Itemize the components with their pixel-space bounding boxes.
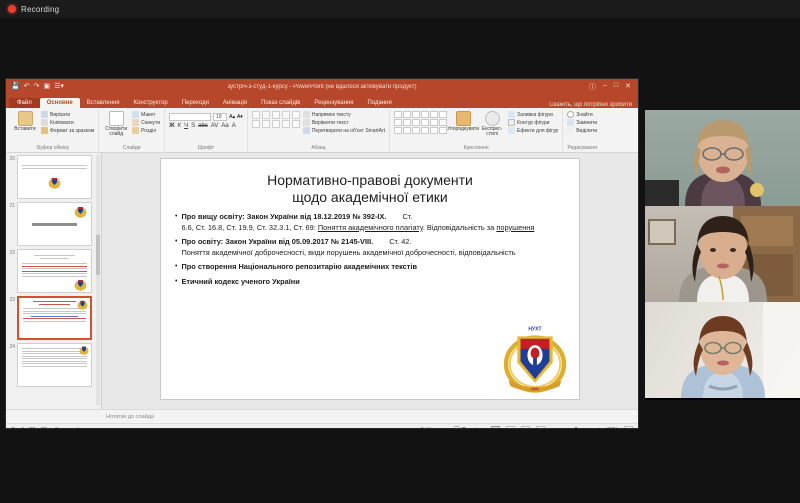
slide-thumbnail[interactable]: 21 bbox=[8, 202, 101, 246]
notes-placeholder: Нотатки до слайда bbox=[106, 414, 154, 420]
view-reading-button[interactable] bbox=[521, 426, 530, 430]
comments-button[interactable]: 💬 Примітки bbox=[453, 427, 484, 429]
tab-home[interactable]: Основне bbox=[40, 98, 80, 108]
screen-root: Recording 💾 ↶ ↷ ▣ ☰▾ зустріч-з-студ-1-ку… bbox=[0, 0, 800, 503]
tab-animations[interactable]: Анімація bbox=[216, 98, 254, 108]
underline-icon[interactable]: Ч bbox=[184, 123, 188, 129]
paste-label: Вставити bbox=[14, 127, 35, 132]
quick-styles-label: Експрес-стилі bbox=[479, 127, 505, 138]
text-direction-button[interactable]: Напрямок тексту bbox=[303, 111, 385, 118]
participant-avatar bbox=[645, 206, 800, 302]
bullet-text: Про створення Національного репозитарію … bbox=[181, 262, 417, 273]
shape-cell[interactable] bbox=[421, 119, 429, 126]
zoom-knob[interactable] bbox=[575, 427, 577, 430]
video-panel bbox=[645, 110, 800, 400]
paste-icon bbox=[18, 111, 33, 126]
thumbnail-number: 22 bbox=[8, 249, 15, 256]
find-button[interactable]: Знайти bbox=[567, 111, 597, 118]
shape-cell[interactable] bbox=[439, 119, 447, 126]
select-icon bbox=[567, 127, 574, 134]
slide-thumbnail[interactable]: 22 bbox=[8, 249, 101, 293]
shape-cell[interactable] bbox=[403, 119, 411, 126]
font-group-label: Шрифт bbox=[169, 145, 243, 152]
tell-me-box[interactable]: Скажіть, що потрібно зробити bbox=[549, 102, 638, 108]
increase-font-icon[interactable]: A▴ bbox=[229, 114, 235, 120]
align-center-icon[interactable] bbox=[262, 120, 270, 128]
smartart-icon bbox=[303, 127, 310, 134]
tab-design[interactable]: Конструктор bbox=[127, 98, 175, 108]
format-painter-button[interactable]: Формат за зразком bbox=[41, 127, 94, 134]
convert-smartart-label: Перетворити на об'єкт SmartArt bbox=[312, 128, 385, 134]
shape-cell[interactable] bbox=[403, 111, 411, 118]
ribbon-group-paragraph: Напрямок тексту Вирівняти текст Перетвор… bbox=[248, 109, 390, 152]
layout-button[interactable]: Макет bbox=[132, 111, 160, 118]
bullet-text: Етичний кодекс ученого України bbox=[181, 277, 299, 288]
slide-canvas[interactable]: Нормативно-правові документи щодо академ… bbox=[160, 158, 580, 400]
bullet-underlined2: порушення bbox=[496, 223, 534, 232]
increase-indent-icon[interactable] bbox=[282, 111, 290, 119]
ribbon-group-slides: Створити слайд Макет Скинути bbox=[99, 109, 165, 152]
view-slideshow-button[interactable] bbox=[536, 426, 545, 430]
bullet-rest2: . Відповідальність за bbox=[423, 223, 497, 232]
video-tile-participant-2[interactable] bbox=[645, 206, 800, 302]
shape-cell[interactable] bbox=[412, 111, 420, 118]
bullet-tail: Ст. 42. bbox=[389, 237, 411, 246]
video-tile-participant-3[interactable] bbox=[645, 302, 800, 398]
language-indicator[interactable]: українська bbox=[66, 427, 93, 429]
bullet-dot-icon: • bbox=[175, 237, 177, 258]
shape-cell[interactable] bbox=[403, 127, 411, 134]
copy-icon bbox=[41, 119, 48, 126]
reset-label: Скинути bbox=[141, 120, 160, 126]
thumbnail-canvas[interactable] bbox=[17, 202, 92, 246]
video-tile-participant-1[interactable] bbox=[645, 110, 800, 206]
bullet-underlined: Поняття академічного плагіату bbox=[318, 223, 423, 232]
slide-stage: Нормативно-правові документи щодо академ… bbox=[102, 153, 638, 409]
tab-review[interactable]: Рецензування bbox=[307, 98, 360, 108]
status-bar: Слайд 23 з 36 ⚖ українська ✎ Нотатки 💬 П… bbox=[6, 423, 638, 429]
new-slide-label: Створити слайд bbox=[103, 127, 129, 138]
shape-cell[interactable] bbox=[394, 111, 402, 118]
align-text-icon bbox=[303, 119, 310, 126]
notes-button[interactable]: ✎ Нотатки bbox=[421, 427, 447, 429]
bullet-lead: Про освіту: Закон України від 05.09.2017… bbox=[181, 237, 373, 246]
replace-icon bbox=[567, 119, 574, 126]
view-normal-button[interactable] bbox=[491, 426, 500, 430]
align-buttons[interactable] bbox=[252, 120, 300, 128]
thumbnail-number: 21 bbox=[8, 202, 15, 209]
shape-cell[interactable] bbox=[439, 127, 447, 134]
font-name-input[interactable] bbox=[169, 113, 211, 121]
nuht-emblem-icon bbox=[48, 176, 61, 189]
shape-cell[interactable] bbox=[421, 127, 429, 134]
replace-button[interactable]: Замінити bbox=[567, 119, 597, 126]
thumbnail-canvas[interactable] bbox=[17, 296, 92, 340]
nuht-emblem-icon bbox=[77, 299, 88, 310]
drawing-group-label: Креслення bbox=[394, 145, 558, 152]
slide-thumbnail[interactable]: 20 bbox=[8, 155, 101, 199]
ribbon-body: Вставити Вирізати Копіювати bbox=[6, 108, 638, 153]
tab-insert[interactable]: Вставлення bbox=[80, 98, 127, 108]
tab-file[interactable]: Файл bbox=[9, 98, 40, 108]
slide-bullet: • Про вищу освіту: Закон України від 18.… bbox=[175, 212, 569, 233]
nuht-emblem-icon bbox=[79, 345, 89, 355]
char-spacing-icon[interactable]: AV bbox=[211, 123, 219, 129]
recording-label: Recording bbox=[21, 5, 59, 14]
zoom-out-icon[interactable]: – bbox=[551, 427, 554, 429]
thumbnail-canvas[interactable] bbox=[17, 155, 92, 199]
view-slide-sorter-button[interactable] bbox=[506, 426, 515, 430]
nuht-emblem-icon bbox=[74, 278, 87, 291]
slide-counter: Слайд 23 з 36 bbox=[11, 427, 47, 429]
section-label: Розділ bbox=[141, 128, 156, 134]
window-title: зустріч-з-студ-1-курсу - PowerPoint (не … bbox=[6, 84, 638, 90]
shape-cell[interactable] bbox=[430, 127, 438, 134]
justify-icon[interactable] bbox=[282, 120, 290, 128]
scissors-icon bbox=[41, 111, 48, 118]
decrease-font-icon[interactable]: A▾ bbox=[237, 114, 243, 120]
brush-icon bbox=[41, 127, 48, 134]
bullet-dot-icon: • bbox=[175, 277, 177, 288]
tab-slideshow[interactable]: Показ слайдів bbox=[254, 98, 307, 108]
slides-group-label: Слайди bbox=[103, 145, 160, 152]
shape-fill-label: Заливка фігури bbox=[517, 112, 553, 118]
recording-dot-icon bbox=[8, 5, 16, 13]
participant-avatar bbox=[645, 110, 800, 206]
ribbon-group-editing: Знайти Замінити Виділити Редагування bbox=[563, 109, 601, 152]
fit-slide-button[interactable] bbox=[624, 426, 633, 430]
tab-view[interactable]: Подання bbox=[361, 98, 399, 108]
slide-title-line1: Нормативно-правові документи bbox=[161, 172, 579, 189]
bullet-lead: Про вищу освіту: Закон України від 18.12… bbox=[181, 212, 386, 221]
bullet-text: Про вищу освіту: Закон України від 18.12… bbox=[181, 212, 534, 233]
select-label: Виділити bbox=[576, 128, 597, 134]
slide-thumbnail-selected[interactable]: 23 bbox=[8, 296, 101, 340]
arrange-label: Упорядкувати bbox=[447, 127, 479, 132]
work-area: 20 21 bbox=[6, 153, 638, 409]
shape-cell[interactable] bbox=[430, 111, 438, 118]
columns-icon[interactable] bbox=[292, 120, 300, 128]
recording-bar: Recording bbox=[0, 0, 800, 18]
line-spacing-icon[interactable] bbox=[292, 111, 300, 119]
shape-cell[interactable] bbox=[394, 127, 402, 134]
bullet-rest: Поняття академічної доброчесності, види … bbox=[181, 248, 515, 257]
thumbnail-number: 23 bbox=[8, 296, 15, 303]
clipboard-group-label: Буфер обміну bbox=[12, 145, 94, 152]
align-text-label: Вирівняти текст bbox=[312, 120, 349, 126]
strikethrough-icon[interactable]: abc bbox=[198, 123, 208, 129]
copy-button[interactable]: Копіювати bbox=[41, 119, 94, 126]
accessibility-icon[interactable]: ⚖ bbox=[54, 427, 59, 429]
align-right-icon[interactable] bbox=[272, 120, 280, 128]
nuht-emblem-icon bbox=[74, 205, 87, 218]
slide-thumbnail-panel[interactable]: 20 21 bbox=[6, 153, 102, 409]
slide-title-line2: щодо академічної етики bbox=[161, 189, 579, 206]
shape-fill-button[interactable]: Заливка фігури bbox=[508, 111, 558, 118]
section-icon bbox=[132, 127, 139, 134]
list-buttons[interactable] bbox=[252, 111, 300, 119]
bullet-dot-icon: • bbox=[175, 212, 177, 233]
text-direction-icon bbox=[303, 111, 310, 118]
bullets-icon[interactable] bbox=[252, 111, 260, 119]
reset-icon bbox=[132, 119, 139, 126]
layout-label: Макет bbox=[141, 112, 155, 118]
nuht-emblem-icon: НУХТ ННІ bbox=[503, 325, 567, 393]
slide-thumbnail[interactable]: 24 bbox=[8, 343, 101, 387]
zoom-slider[interactable]: – + bbox=[551, 427, 601, 429]
ribbon-tabs[interactable]: Файл Основне Вставлення Конструктор Пере… bbox=[6, 94, 638, 108]
paste-button[interactable]: Вставити bbox=[12, 111, 38, 132]
quick-styles-button[interactable]: Експрес-стилі bbox=[479, 111, 505, 138]
section-button[interactable]: Розділ bbox=[132, 127, 160, 134]
paragraph-group-label: Абзац bbox=[252, 145, 385, 152]
new-slide-button[interactable]: Створити слайд bbox=[103, 111, 129, 138]
slide-bullet: • Про створення Національного репозитарі… bbox=[175, 262, 569, 273]
text-direction-label: Напрямок тексту bbox=[312, 112, 351, 118]
cut-button[interactable]: Вирізати bbox=[41, 111, 94, 118]
align-text-button[interactable]: Вирівняти текст bbox=[303, 119, 385, 126]
layout-icon bbox=[132, 111, 139, 118]
shape-effects-icon bbox=[508, 127, 515, 134]
shape-cell[interactable] bbox=[430, 119, 438, 126]
arrange-button[interactable]: Упорядкувати bbox=[450, 111, 476, 132]
shape-cell[interactable] bbox=[394, 119, 402, 126]
font-color-icon[interactable]: A bbox=[232, 123, 236, 129]
change-case-icon[interactable]: Aa bbox=[221, 123, 228, 129]
shapes-gallery[interactable] bbox=[394, 111, 447, 134]
convert-smartart-button[interactable]: Перетворити на об'єкт SmartArt bbox=[303, 127, 385, 134]
replace-label: Замінити bbox=[576, 120, 597, 126]
svg-text:ННІ: ННІ bbox=[531, 386, 539, 391]
align-left-icon[interactable] bbox=[252, 120, 260, 128]
bullet-text: Про освіту: Закон України від 05.09.2017… bbox=[181, 237, 515, 258]
shape-cell[interactable] bbox=[421, 111, 429, 118]
bullet-tail: Ст. bbox=[402, 212, 412, 221]
title-bar: 💾 ↶ ↷ ▣ ☰▾ зустріч-з-студ-1-курсу - Powe… bbox=[6, 79, 638, 94]
shape-cell[interactable] bbox=[439, 111, 447, 118]
slide-bullet: • Про освіту: Закон України від 05.09.20… bbox=[175, 237, 569, 258]
select-button[interactable]: Виділити bbox=[567, 127, 597, 134]
thumbnail-canvas[interactable] bbox=[17, 343, 92, 387]
ribbon-group-font: 18 A▴ A▾ Ж К Ч S abc AV Aa A Ш bbox=[165, 109, 248, 152]
zoom-in-icon[interactable]: + bbox=[598, 427, 601, 429]
editing-group-label: Редагування bbox=[567, 145, 597, 152]
powerpoint-window: 💾 ↶ ↷ ▣ ☰▾ зустріч-з-студ-1-курсу - Powe… bbox=[5, 78, 639, 429]
thumbnail-canvas[interactable] bbox=[17, 249, 92, 293]
cut-label: Вирізати bbox=[50, 112, 70, 118]
search-icon bbox=[567, 111, 574, 118]
thumbnail-scrollbar[interactable] bbox=[96, 155, 100, 405]
shape-outline-icon bbox=[508, 119, 515, 126]
reset-button[interactable]: Скинути bbox=[132, 119, 160, 126]
decrease-indent-icon[interactable] bbox=[272, 111, 280, 119]
thumbnail-number: 24 bbox=[8, 343, 15, 350]
notes-pane[interactable]: Нотатки до слайда bbox=[6, 409, 638, 423]
shape-cell[interactable] bbox=[412, 127, 420, 134]
shadow-icon[interactable]: S bbox=[191, 123, 195, 129]
shape-fill-icon bbox=[508, 111, 515, 118]
arrange-icon bbox=[456, 111, 471, 126]
copy-label: Копіювати bbox=[50, 120, 74, 126]
font-size-input[interactable]: 18 bbox=[213, 113, 227, 121]
slide-title[interactable]: Нормативно-правові документи щодо академ… bbox=[161, 172, 579, 205]
shape-effects-button[interactable]: Ефекти для фігур bbox=[508, 127, 558, 134]
shape-outline-button[interactable]: Контур фігури bbox=[508, 119, 558, 126]
shape-outline-label: Контур фігури bbox=[517, 120, 549, 126]
bullet-rest: 6.6, Ст. 16.8, Ст. 19.9, Ст. 32.3.1, Ст.… bbox=[181, 223, 317, 232]
bullet-lead: Про створення Національного репозитарію … bbox=[181, 262, 417, 271]
numbering-icon[interactable] bbox=[262, 111, 270, 119]
bold-icon[interactable]: Ж bbox=[169, 123, 174, 129]
thumbnail-number: 20 bbox=[8, 155, 15, 162]
nuht-emblem-label: НУХТ bbox=[528, 327, 542, 333]
italic-icon[interactable]: К bbox=[178, 123, 182, 129]
slide-bullet: • Етичний кодекс ученого України bbox=[175, 277, 569, 288]
tab-transitions[interactable]: Переходи bbox=[175, 98, 216, 108]
slide-body[interactable]: • Про вищу освіту: Закон України від 18.… bbox=[175, 212, 569, 287]
bullet-lead: Етичний кодекс ученого України bbox=[181, 277, 299, 286]
ribbon-group-drawing: Упорядкувати Експрес-стилі Заливка фігур… bbox=[390, 109, 563, 152]
find-label: Знайти bbox=[576, 112, 592, 118]
quick-styles-icon bbox=[485, 111, 500, 126]
bullet-dot-icon: • bbox=[175, 262, 177, 273]
new-slide-icon bbox=[109, 111, 124, 126]
zoom-level[interactable]: 66% bbox=[607, 427, 618, 429]
format-painter-label: Формат за зразком bbox=[50, 128, 94, 134]
ribbon-group-clipboard: Вставити Вирізати Копіювати bbox=[8, 109, 99, 152]
participant-avatar bbox=[645, 302, 800, 398]
shape-cell[interactable] bbox=[412, 119, 420, 126]
shape-effects-label: Ефекти для фігур bbox=[517, 128, 558, 134]
